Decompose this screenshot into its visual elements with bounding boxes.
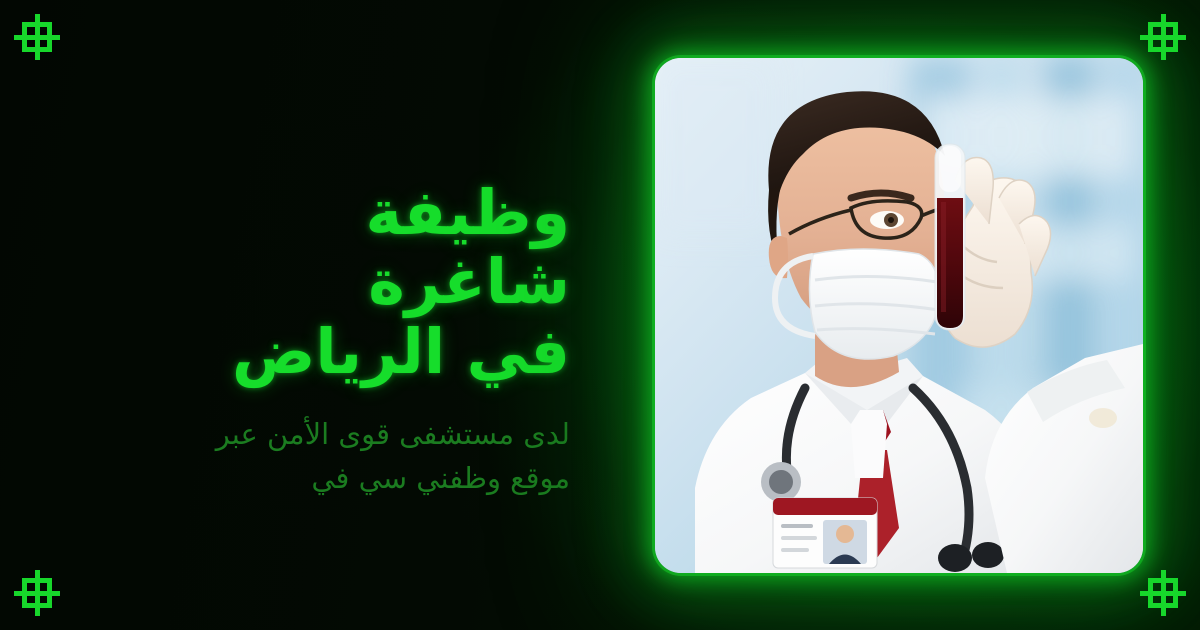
id-badge (773, 498, 877, 568)
registration-mark-horizontal-bar (1140, 591, 1186, 596)
job-vacancy-poster: وظيفة شاغرة في الرياض لدى مستشفى قوى الأ… (0, 0, 1200, 630)
registration-mark-bottom-left (14, 570, 60, 616)
subtitle: لدى مستشفى قوى الأمن عبر موقع وظفني سي ف… (150, 412, 570, 500)
subtitle-line-1: لدى مستشفى قوى الأمن عبر (150, 412, 570, 456)
registration-mark-top-right (1140, 14, 1186, 60)
doctor-photo-card (655, 58, 1143, 573)
page-title: وظيفة شاغرة في الرياض (150, 178, 570, 386)
registration-mark-horizontal-bar (1140, 35, 1186, 40)
registration-mark-bottom-right (1140, 570, 1186, 616)
headline-line-2: في الرياض (150, 317, 570, 386)
doctor-photo (655, 58, 1143, 573)
poster-text-column: وظيفة شاغرة في الرياض لدى مستشفى قوى الأ… (150, 178, 570, 500)
blood-test-tube (935, 144, 965, 330)
subtitle-line-2: موقع وظفني سي في (150, 456, 570, 500)
headline-line-1: وظيفة شاغرة (150, 178, 570, 317)
registration-mark-top-left (14, 14, 60, 60)
registration-mark-horizontal-bar (14, 591, 60, 596)
registration-mark-horizontal-bar (14, 35, 60, 40)
